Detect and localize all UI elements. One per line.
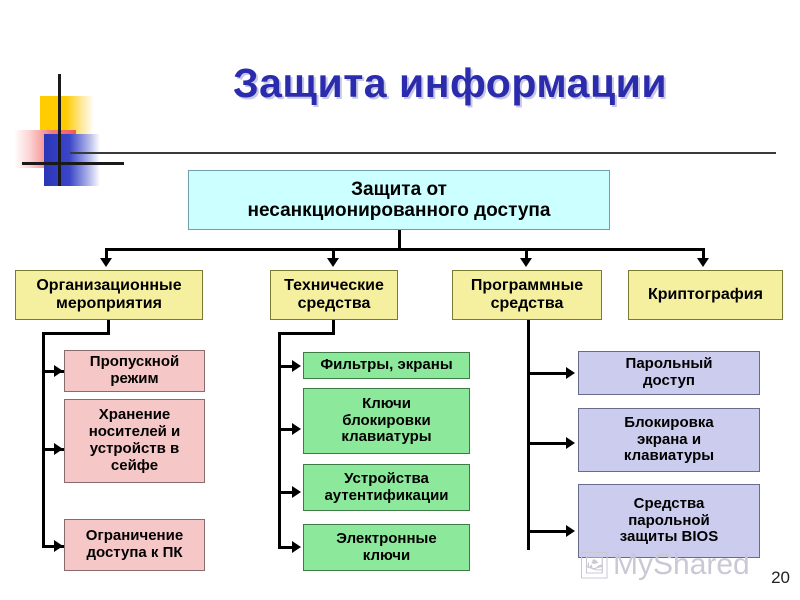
organizational-item-1-line2: режим — [68, 371, 201, 388]
software-item-3-line2: парольной — [582, 513, 756, 530]
technical-item-3-line2: аутентификации — [307, 488, 466, 505]
arrow-right-technical-1 — [292, 360, 301, 372]
technical-item-3: Устройства аутентификации — [303, 464, 470, 511]
technical-item-2-line1: Ключи — [307, 396, 466, 413]
organizational-item-1: Пропускной режим — [64, 350, 205, 392]
title-divider — [70, 152, 776, 154]
page-title: Защита информации — [130, 60, 770, 107]
category-software-line2: средства — [456, 295, 598, 313]
software-item-2-line2: экрана и — [582, 432, 756, 449]
technical-item-2: Ключи блокировки клавиатуры — [303, 388, 470, 454]
logo-vertical-line — [58, 74, 61, 186]
organizational-item-3: Ограничение доступа к ПК — [64, 519, 205, 571]
technical-item-3-line1: Устройства — [307, 471, 466, 488]
software-item-1-line1: Парольный — [582, 356, 756, 373]
arrow-right-organizational-1 — [54, 365, 63, 377]
arrow-right-software-2 — [566, 437, 575, 449]
category-organizational-line2: мероприятия — [19, 295, 199, 313]
software-item-2: Блокировка экрана и клавиатуры — [578, 408, 760, 472]
category-technical-line1: Технические — [274, 277, 394, 295]
root-node: Защита от несанкционированного доступа — [188, 170, 610, 230]
root-trunk-line — [398, 230, 401, 250]
category-cryptography-line1: Криптография — [632, 286, 779, 304]
organizational-item-2: Хранение носителей и устройств в сейфе — [64, 399, 205, 483]
arrow-right-organizational-3 — [54, 540, 63, 552]
arrow-right-technical-3 — [292, 486, 301, 498]
software-item-3-line3: защиты BIOS — [582, 529, 756, 546]
arrow-right-software-3 — [566, 525, 575, 537]
organizational-elbow-line — [42, 332, 110, 335]
category-organizational: Организационные мероприятия — [15, 270, 203, 320]
category-organizational-line1: Организационные — [19, 277, 199, 295]
arrow-right-software-1 — [566, 367, 575, 379]
category-technical-line2: средства — [274, 295, 394, 313]
organizational-item-2-line2: носителей и — [68, 424, 201, 441]
logo-blue-square — [44, 134, 100, 186]
arrow-right-technical-4 — [292, 541, 301, 553]
category-software-line1: Программные — [456, 277, 598, 295]
arrow-down-cryptography — [697, 258, 709, 267]
arrow-down-organizational — [100, 258, 112, 267]
technical-item-4-line2: ключи — [307, 548, 466, 565]
arrow-down-technical — [327, 258, 339, 267]
technical-item-4-line1: Электронные — [307, 531, 466, 548]
organizational-item-3-line1: Ограничение — [68, 528, 201, 545]
slide-canvas: Защита информации Защита от несанкционир… — [0, 0, 800, 600]
category-technical: Технические средства — [270, 270, 398, 320]
technical-item-4: Электронные ключи — [303, 524, 470, 571]
organizational-item-2-line1: Хранение — [68, 407, 201, 424]
software-item-2-line1: Блокировка — [582, 415, 756, 432]
technical-elbow-line — [278, 332, 335, 335]
logo-horizontal-line — [22, 162, 124, 165]
organizational-spine-line — [42, 332, 45, 547]
technical-item-2-line2: блокировки — [307, 413, 466, 430]
root-node-line1: Защита от — [192, 179, 606, 200]
page-number: 20 — [771, 568, 790, 588]
software-item-1: Парольный доступ — [578, 351, 760, 395]
organizational-item-3-line2: доступа к ПК — [68, 545, 201, 562]
software-feed-line-1 — [527, 372, 569, 375]
distribution-bus-line — [105, 248, 702, 251]
root-node-line2: несанкционированного доступа — [192, 200, 606, 221]
arrow-right-technical-2 — [292, 423, 301, 435]
organizational-item-1-line1: Пропускной — [68, 354, 201, 371]
software-item-3: Средства парольной защиты BIOS — [578, 484, 760, 558]
software-item-3-line1: Средства — [582, 496, 756, 513]
technical-item-2-line3: клавиатуры — [307, 429, 466, 446]
category-software: Программные средства — [452, 270, 602, 320]
arrow-down-software — [520, 258, 532, 267]
organizational-item-2-line4: сейфе — [68, 458, 201, 475]
software-feed-line-3 — [527, 530, 569, 533]
decorative-logo — [14, 74, 124, 186]
arrow-right-organizational-2 — [54, 443, 63, 455]
software-item-2-line3: клавиатуры — [582, 448, 756, 465]
category-cryptography: Криптография — [628, 270, 783, 320]
technical-item-1: Фильтры, экраны — [303, 352, 470, 379]
software-item-1-line2: доступ — [582, 373, 756, 390]
organizational-item-2-line3: устройств в — [68, 441, 201, 458]
technical-item-1-line1: Фильтры, экраны — [307, 357, 466, 374]
software-spine-line — [527, 320, 530, 550]
software-feed-line-2 — [527, 442, 569, 445]
